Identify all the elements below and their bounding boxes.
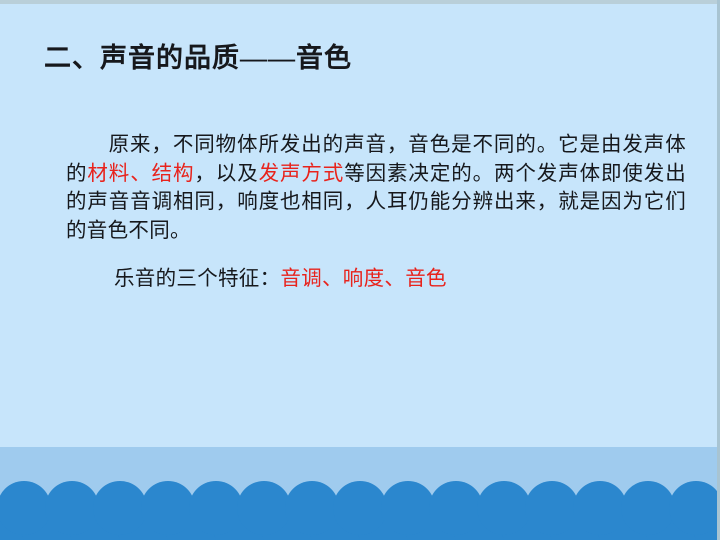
paragraph-segment-highlight-2: 发声方式 — [259, 163, 345, 185]
scallop-row-upper — [0, 480, 720, 536]
paragraph-segment-plain-2: ，以及 — [194, 163, 258, 185]
tagline-row: 乐音的三个特征：音调、响度、音色 — [114, 265, 447, 294]
body-text-block: 原来，不同物体所发出的声音，音色是不同的。它是由发声体的材料、结构，以及发声方式… — [66, 131, 686, 245]
tagline-highlight: 音调、响度、音色 — [280, 268, 446, 290]
tagline-label: 乐音的三个特征： — [114, 268, 280, 290]
paragraph-segment-highlight-1: 材料、结构 — [87, 163, 194, 185]
slide-canvas: 二、声音的品质——音色 原来，不同物体所发出的声音，音色是不同的。它是由发声体的… — [0, 0, 720, 540]
paragraph-1: 原来，不同物体所发出的声音，音色是不同的。它是由发声体的材料、结构，以及发声方式… — [66, 131, 686, 245]
page-title: 二、声音的品质——音色 — [44, 41, 352, 75]
